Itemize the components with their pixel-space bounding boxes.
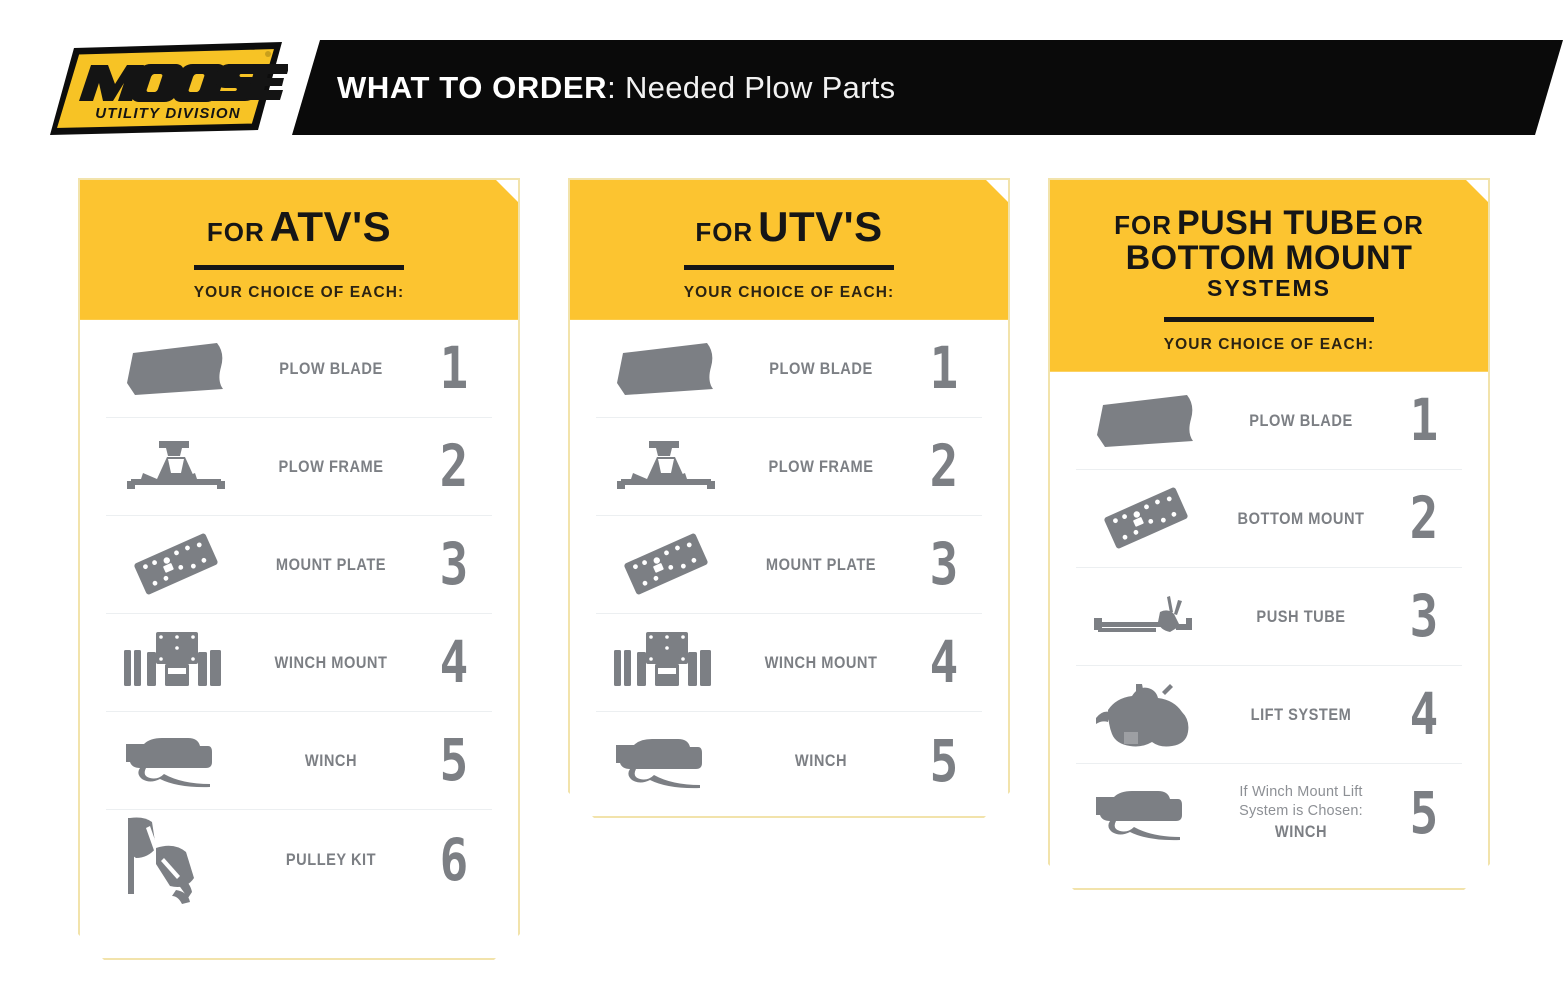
list-item[interactable]: PULLEY KIT 6 <box>106 810 492 910</box>
card-atv-title-main: ATV'S <box>270 203 391 250</box>
bottom-mount-icon <box>1076 483 1216 553</box>
list-item-number: 6 <box>423 831 485 889</box>
plow-blade-icon <box>596 337 736 399</box>
card-push-title-prefix: FOR <box>1114 210 1172 240</box>
card-atv-title-prefix: FOR <box>207 217 265 247</box>
card-utv-subtitle: YOUR CHOICE OF EACH: <box>570 284 1008 302</box>
list-item[interactable]: WINCH MOUNT 4 <box>106 614 492 712</box>
card-push-divider <box>1164 317 1374 322</box>
card-push-tube-header: FOR PUSH TUBE OR BOTTOM MOUNT SYSTEMS YO… <box>1050 180 1488 372</box>
plow-blade-icon <box>1076 389 1216 451</box>
list-item[interactable]: BOTTOM MOUNT 2 <box>1076 470 1462 568</box>
card-utv: FOR UTV'S YOUR CHOICE OF EACH: PLOW BLAD… <box>568 178 1010 818</box>
list-item-label: PUSH TUBE <box>1228 606 1374 627</box>
list-item-label: WINCH MOUNT <box>748 652 894 673</box>
list-item-number: 1 <box>913 339 975 397</box>
list-item-number: 1 <box>423 339 485 397</box>
list-item-label: MOUNT PLATE <box>748 554 894 575</box>
list-item[interactable]: PLOW BLADE 1 <box>106 320 492 418</box>
plow-frame-icon <box>596 435 736 497</box>
list-item-label: LIFT SYSTEM <box>1228 704 1374 725</box>
card-push-subtitle: YOUR CHOICE OF EACH: <box>1050 336 1488 354</box>
card-atv-header: FOR ATV'S YOUR CHOICE OF EACH: <box>80 180 518 320</box>
list-item-label: BOTTOM MOUNT <box>1228 508 1374 529</box>
card-utv-header: FOR UTV'S YOUR CHOICE OF EACH: <box>570 180 1008 320</box>
list-item-label-text: WINCH <box>1275 822 1327 841</box>
mount-plate-icon <box>596 529 736 599</box>
card-atv-title: FOR ATV'S <box>80 206 518 249</box>
list-item-number: 5 <box>1393 784 1455 842</box>
winch-mount-icon <box>596 626 736 698</box>
card-push-title-main: PUSH TUBE <box>1177 204 1378 242</box>
list-item-label: PLOW BLADE <box>258 358 404 379</box>
card-push-tube-title: FOR PUSH TUBE OR BOTTOM MOUNT SYSTEMS <box>1050 206 1488 301</box>
list-item-number: 3 <box>423 535 485 593</box>
push-tube-icon <box>1076 588 1216 644</box>
card-push-tube-body: PLOW BLADE 1 <box>1050 372 1488 862</box>
list-item[interactable]: MOUNT PLATE 3 <box>596 516 982 614</box>
cards-container: FOR ATV'S YOUR CHOICE OF EACH: PLOW BLAD… <box>0 0 1563 1000</box>
list-item[interactable]: PUSH TUBE 3 <box>1076 568 1462 666</box>
card-atv: FOR ATV'S YOUR CHOICE OF EACH: PLOW BLAD… <box>78 178 520 960</box>
card-atv-body: PLOW BLADE 1 <box>80 320 518 910</box>
list-item-label: PLOW FRAME <box>748 456 894 477</box>
list-item[interactable]: WINCH 5 <box>106 712 492 810</box>
list-item-label: PLOW BLADE <box>748 358 894 379</box>
card-utv-divider <box>684 265 894 270</box>
list-item-number: 2 <box>1393 489 1455 547</box>
card-push-title-line3: SYSTEMS <box>1050 277 1488 300</box>
list-item-label: PLOW BLADE <box>1228 410 1374 431</box>
list-item-number: 5 <box>913 732 975 790</box>
winch-icon <box>106 730 246 790</box>
list-item-number: 1 <box>1393 391 1455 449</box>
plow-frame-icon <box>106 435 246 497</box>
lift-system-icon <box>1076 676 1216 752</box>
list-item-label: PLOW FRAME <box>258 456 404 477</box>
infographic-page: UTILITY DIVISION WHAT TO ORDER: Needed P… <box>0 0 1563 1000</box>
list-item-label: WINCH MOUNT <box>258 652 404 673</box>
list-item-number: 5 <box>423 731 485 789</box>
list-item-label: WINCH <box>258 750 404 771</box>
list-item[interactable]: If Winch Mount Lift System is Chosen: WI… <box>1076 764 1462 862</box>
plow-blade-icon <box>106 337 246 399</box>
list-item-note: If Winch Mount Lift System is Chosen: <box>1219 783 1383 821</box>
list-item[interactable]: WINCH 5 <box>596 712 982 810</box>
list-item[interactable]: PLOW BLADE 1 <box>1076 372 1462 470</box>
list-item-number: 4 <box>423 633 485 691</box>
card-utv-title: FOR UTV'S <box>570 206 1008 249</box>
list-item-number: 4 <box>913 633 975 691</box>
list-item-number: 4 <box>1393 685 1455 743</box>
card-atv-divider <box>194 265 404 270</box>
winch-icon <box>596 731 736 791</box>
list-item-number: 2 <box>913 437 975 495</box>
pulley-kit-icon <box>106 810 246 910</box>
list-item-number: 2 <box>423 437 485 495</box>
list-item[interactable]: PLOW BLADE 1 <box>596 320 982 418</box>
list-item[interactable]: LIFT SYSTEM 4 <box>1076 666 1462 764</box>
list-item-label: WINCH <box>748 750 894 771</box>
list-item[interactable]: MOUNT PLATE 3 <box>106 516 492 614</box>
mount-plate-icon <box>106 529 246 599</box>
list-item-label: If Winch Mount Lift System is Chosen: WI… <box>1228 783 1374 842</box>
winch-mount-icon <box>106 626 246 698</box>
list-item[interactable]: PLOW FRAME 2 <box>106 418 492 516</box>
list-item-label: MOUNT PLATE <box>258 554 404 575</box>
card-utv-title-main: UTV'S <box>758 203 883 250</box>
card-push-tube: FOR PUSH TUBE OR BOTTOM MOUNT SYSTEMS YO… <box>1048 178 1490 890</box>
list-item[interactable]: PLOW FRAME 2 <box>596 418 982 516</box>
card-atv-subtitle: YOUR CHOICE OF EACH: <box>80 284 518 302</box>
list-item-number: 3 <box>1393 587 1455 645</box>
winch-icon <box>1076 783 1216 843</box>
list-item-number: 3 <box>913 535 975 593</box>
card-push-title-line2: BOTTOM MOUNT <box>1126 239 1413 277</box>
list-item[interactable]: WINCH MOUNT 4 <box>596 614 982 712</box>
card-utv-body: PLOW BLADE 1 <box>570 320 1008 810</box>
card-push-title-conj: OR <box>1383 210 1424 240</box>
card-utv-title-prefix: FOR <box>695 217 753 247</box>
list-item-label: PULLEY KIT <box>258 849 404 870</box>
